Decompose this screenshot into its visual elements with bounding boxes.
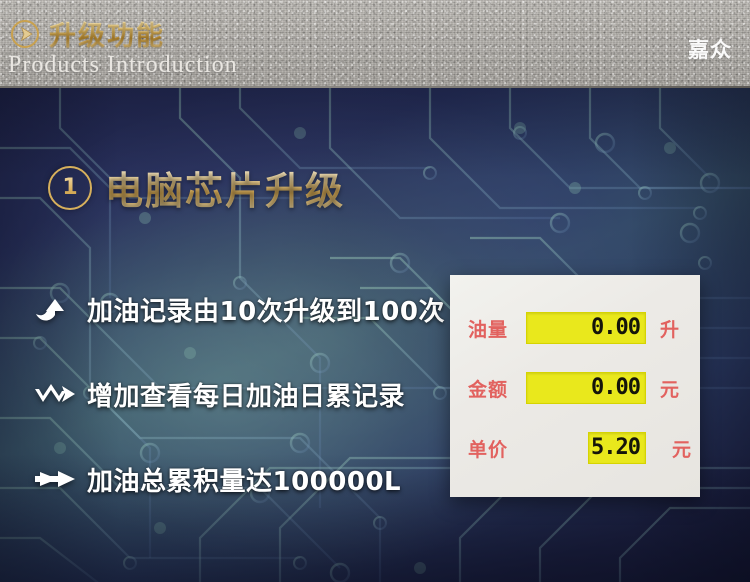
header-title-en: Products Introduction [8, 52, 238, 79]
brand-logo: 嘉众 [688, 34, 732, 64]
bullet-list: 加油记录由10次升级到100次 增加查看每日加油日累记录 加油总累积量达1000… [34, 286, 445, 541]
amount-display: 0.00 [526, 372, 646, 404]
play-circle-icon [10, 19, 40, 49]
fuel-dispenser-panel: 油量 0.00 升 金额 0.00 元 单价 5.20 元 [450, 275, 700, 497]
list-item: 增加查看每日加油日累记录 [34, 371, 445, 417]
list-item-label: 加油记录由10次升级到100次 [87, 291, 445, 328]
header-title-cn: 升级功能 [49, 14, 165, 53]
header-bar: 升级功能 Products Introduction 嘉众 [0, 0, 750, 88]
list-item-label: 加油总累积量达100000L [87, 461, 401, 498]
list-item-label: 增加查看每日加油日累记录 [87, 376, 405, 413]
curved-up-arrow-icon [34, 293, 76, 325]
main-title: 1 电脑芯片升级 [48, 160, 345, 215]
unit-price-unit: 元 [672, 435, 691, 462]
panel-row-amount: 金额 0.00 元 [450, 363, 700, 413]
header-divider [0, 86, 750, 88]
right-arrow-icon [34, 463, 76, 495]
slide-root: 升级功能 Products Introduction 嘉众 [0, 0, 750, 582]
amount-label: 金额 [450, 375, 526, 402]
unit-price-display: 5.20 [588, 432, 646, 464]
main-title-text: 电脑芯片升级 [105, 160, 345, 215]
zigzag-arrow-icon [34, 378, 76, 410]
volume-display: 0.00 [526, 312, 646, 344]
panel-rows: 油量 0.00 升 金额 0.00 元 单价 5.20 元 [450, 275, 700, 497]
amount-unit: 元 [660, 375, 679, 402]
panel-row-unit-price: 单价 5.20 元 [450, 423, 700, 473]
amount-value: 0.00 [591, 377, 640, 399]
list-item: 加油记录由10次升级到100次 [34, 286, 445, 332]
unit-price-label: 单价 [450, 435, 526, 462]
header-title-row: 升级功能 [10, 14, 165, 53]
volume-unit: 升 [660, 315, 679, 342]
list-item: 加油总累积量达100000L [34, 456, 445, 502]
unit-price-value: 5.20 [591, 437, 640, 459]
volume-label: 油量 [450, 315, 526, 342]
volume-value: 0.00 [591, 317, 640, 339]
step-number-badge: 1 [48, 166, 92, 210]
panel-row-volume: 油量 0.00 升 [450, 303, 700, 353]
